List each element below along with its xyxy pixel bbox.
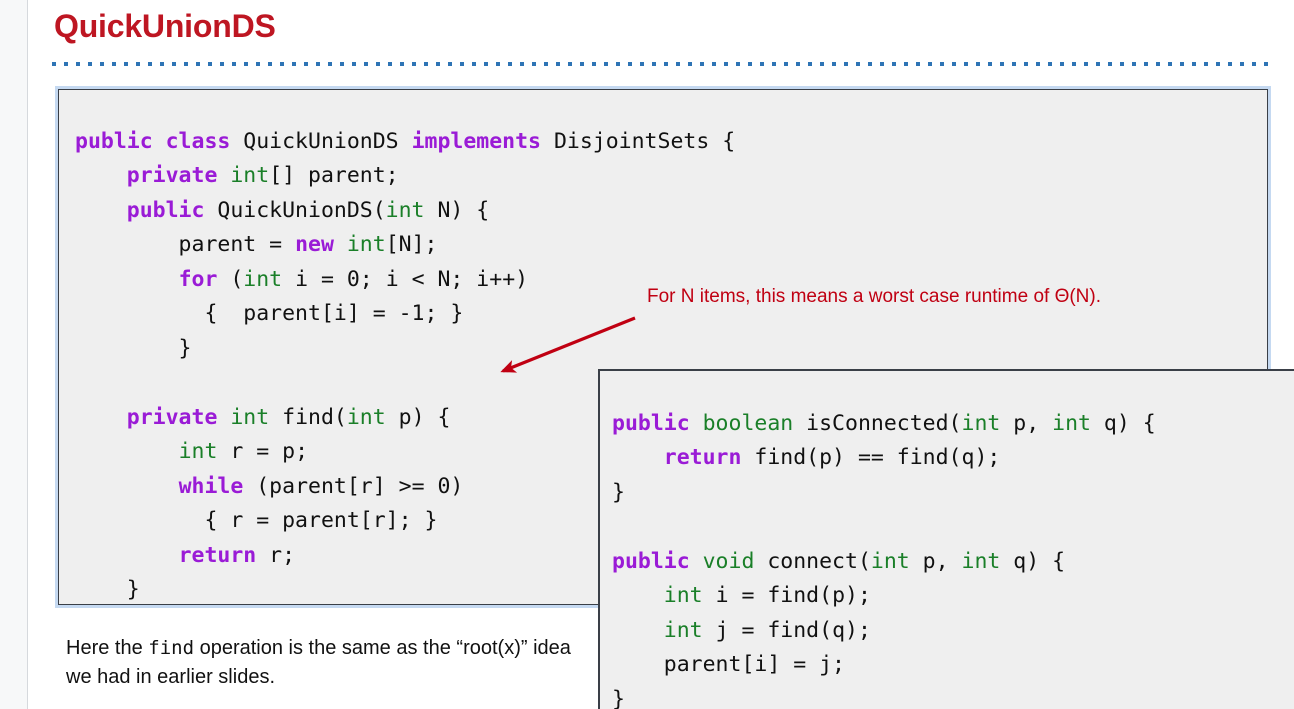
code-token: q) { — [1091, 411, 1156, 436]
slide-panel-strip — [0, 0, 27, 709]
code-token: isConnected( — [793, 411, 961, 436]
code-token: int — [871, 549, 910, 574]
code-token: public — [612, 411, 703, 436]
code-token: public — [127, 198, 218, 223]
code-token — [75, 405, 127, 430]
code-token: { parent[i] = -1; } — [75, 301, 463, 326]
code-token: int — [1052, 411, 1091, 436]
caption-part1: Here the — [66, 637, 148, 659]
code-token: int — [230, 405, 269, 430]
annotation-text: For N items, this means a worst case run… — [647, 286, 1101, 308]
code-token: int — [347, 232, 386, 257]
code-token: DisjointSets { — [554, 129, 735, 154]
code-token — [612, 618, 664, 643]
code-token: p, — [1000, 411, 1052, 436]
slide-caption: Here the find operation is the same as t… — [66, 634, 596, 692]
code-token: [N]; — [386, 232, 438, 257]
code-token: while — [179, 474, 257, 499]
code-token: } — [75, 336, 192, 361]
code-token: r; — [269, 543, 295, 568]
code-token: int — [962, 411, 1001, 436]
code-token: find(p) == find(q); — [754, 445, 1000, 470]
code-token: QuickUnionDS — [243, 129, 411, 154]
code-token: int — [230, 163, 269, 188]
code-token: q) { — [1000, 549, 1065, 574]
panel-divider — [27, 0, 28, 709]
code-token — [612, 583, 664, 608]
code-token: int — [386, 198, 425, 223]
code-token — [75, 267, 179, 292]
code-token: boolean — [703, 411, 794, 436]
code-token: implements — [412, 129, 554, 154]
code-token: } — [612, 687, 625, 709]
code-token: public — [612, 549, 703, 574]
code-token: int — [962, 549, 1001, 574]
code-token — [75, 439, 179, 464]
code-token: void — [703, 549, 755, 574]
code-token: QuickUnionDS( — [217, 198, 385, 223]
code-token: { r = parent[r]; } — [75, 508, 437, 533]
caption-mono-term: find — [148, 637, 194, 659]
code-token: private — [127, 405, 231, 430]
code-token: int — [179, 439, 218, 464]
code-token: } — [75, 577, 140, 602]
code-token: return — [664, 445, 755, 470]
title-dotted-rule — [52, 62, 1272, 66]
code-token: [] parent; — [269, 163, 398, 188]
code-token: i = find(p); — [703, 583, 871, 608]
code-token — [75, 474, 179, 499]
code-token: find( — [269, 405, 347, 430]
code-token: new — [295, 232, 347, 257]
code-token: j = find(q); — [703, 618, 871, 643]
code-token: int — [243, 267, 282, 292]
code-token — [612, 445, 664, 470]
code-token: r = p; — [217, 439, 308, 464]
code-token: parent = — [75, 232, 295, 257]
code-token: } — [612, 480, 625, 505]
code-token: int — [347, 405, 386, 430]
code-token: (parent[r] >= 0) — [256, 474, 463, 499]
code-block-isconnected-connect: public boolean isConnected(int p, int q)… — [598, 369, 1294, 709]
code-token: return — [179, 543, 270, 568]
code-token: p, — [910, 549, 962, 574]
code-token: for — [179, 267, 231, 292]
code-token: ( — [230, 267, 243, 292]
code-token: int — [664, 583, 703, 608]
code-token: N) { — [425, 198, 490, 223]
code-token: connect( — [754, 549, 871, 574]
page-title: QuickUnionDS — [54, 8, 276, 45]
slide-canvas: QuickUnionDS public class QuickUnionDS i… — [0, 0, 1294, 709]
code-b-text: public boolean isConnected(int p, int q)… — [600, 393, 1294, 709]
code-token: p) { — [386, 405, 451, 430]
code-token: parent[i] = j; — [612, 652, 845, 677]
code-token — [75, 198, 127, 223]
code-token — [75, 543, 179, 568]
code-token: private — [127, 163, 231, 188]
code-token: int — [664, 618, 703, 643]
code-token — [75, 163, 127, 188]
code-token: public class — [75, 129, 243, 154]
code-token: i = 0; i < N; i++) — [282, 267, 528, 292]
